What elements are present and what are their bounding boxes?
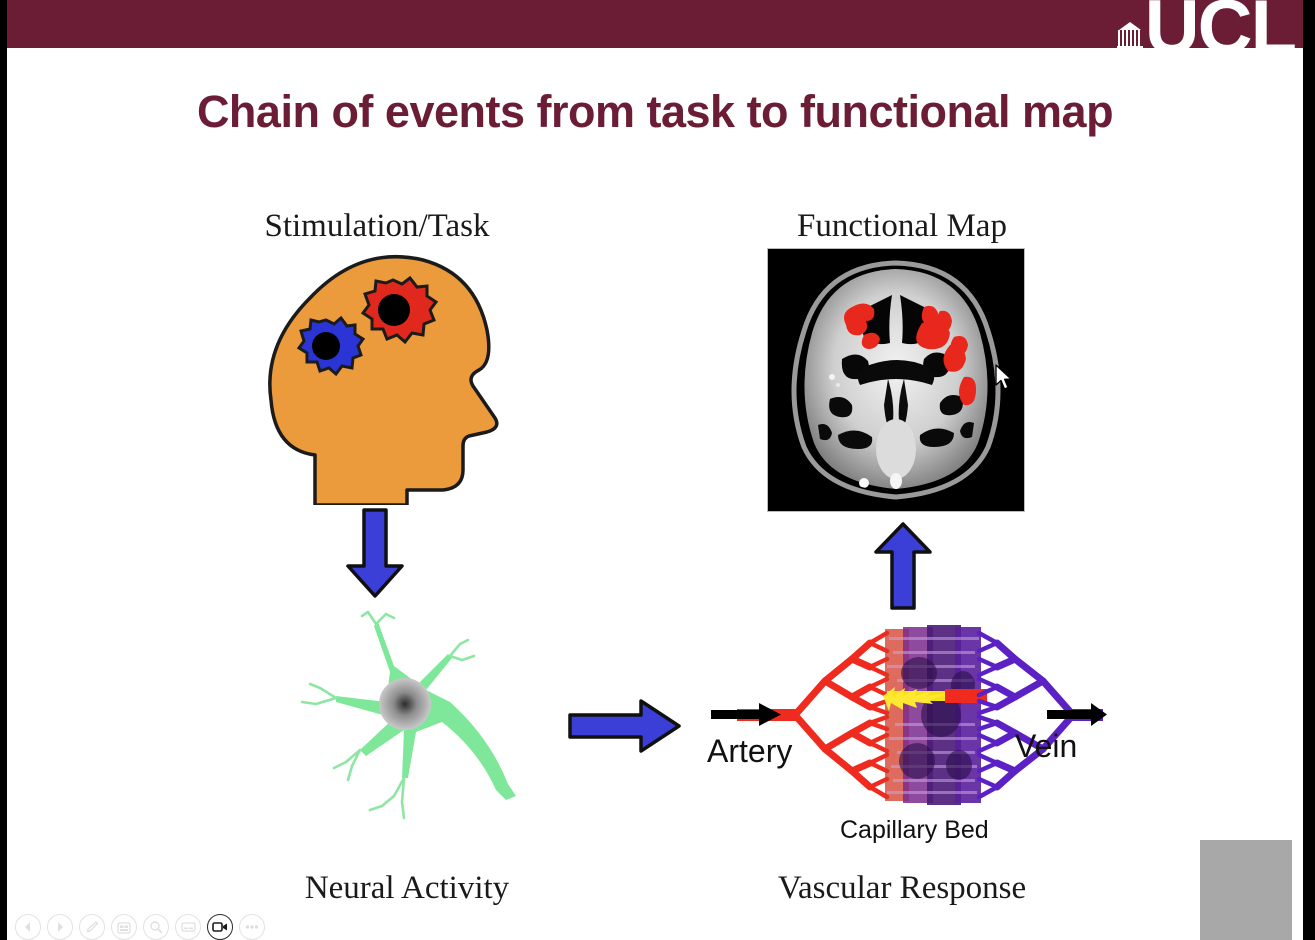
ucl-logo: UCL xyxy=(1117,0,1295,58)
label-vein: Vein xyxy=(1015,728,1077,765)
chevron-right-icon xyxy=(54,921,66,933)
chevron-left-icon xyxy=(22,921,34,933)
artery-capillary-vein-illustration xyxy=(707,615,1107,815)
caption-icon xyxy=(181,921,196,933)
magnifier-icon xyxy=(149,920,163,934)
label-capillary-bed: Capillary Bed xyxy=(840,816,989,845)
presentation-toolbar xyxy=(7,914,315,940)
arrow-down-stimulation-to-neural xyxy=(340,508,410,598)
head-with-gears-illustration xyxy=(255,250,505,505)
slide-grid-button[interactable] xyxy=(111,914,137,940)
zoom-button[interactable] xyxy=(143,914,169,940)
pen-icon xyxy=(85,920,99,934)
portico-building-icon xyxy=(1117,22,1143,52)
presenter-video-thumbnail[interactable] xyxy=(1200,840,1292,940)
fmri-coronal-activation-map xyxy=(768,249,1024,511)
page-title: Chain of events from task to functional … xyxy=(7,86,1303,138)
caption-stimulation-task: Stimulation/Task xyxy=(137,208,617,245)
ucl-header-band: UCL xyxy=(7,0,1303,48)
camera-button[interactable] xyxy=(207,914,233,940)
neuron-illustration xyxy=(290,610,550,850)
presentation-window: UCL Chain of events from task to functio… xyxy=(0,0,1315,940)
ellipsis-icon xyxy=(244,924,260,930)
caption-neural-activity: Neural Activity xyxy=(167,870,647,907)
subtitles-button[interactable] xyxy=(175,914,201,940)
grid-icon xyxy=(117,921,131,934)
previous-slide-button[interactable] xyxy=(15,914,41,940)
label-artery: Artery xyxy=(707,733,792,770)
arrow-right-neural-to-vascular xyxy=(567,697,682,755)
more-options-button[interactable] xyxy=(239,914,265,940)
pen-annotate-button[interactable] xyxy=(79,914,105,940)
slide-surface: UCL Chain of events from task to functio… xyxy=(7,0,1303,940)
caption-functional-map: Functional Map xyxy=(657,208,1147,245)
arrow-up-vascular-to-map xyxy=(870,522,936,610)
ucl-logo-text: UCL xyxy=(1145,0,1295,58)
camera-icon xyxy=(212,921,228,933)
caption-vascular-response: Vascular Response xyxy=(657,870,1147,907)
next-slide-button[interactable] xyxy=(47,914,73,940)
